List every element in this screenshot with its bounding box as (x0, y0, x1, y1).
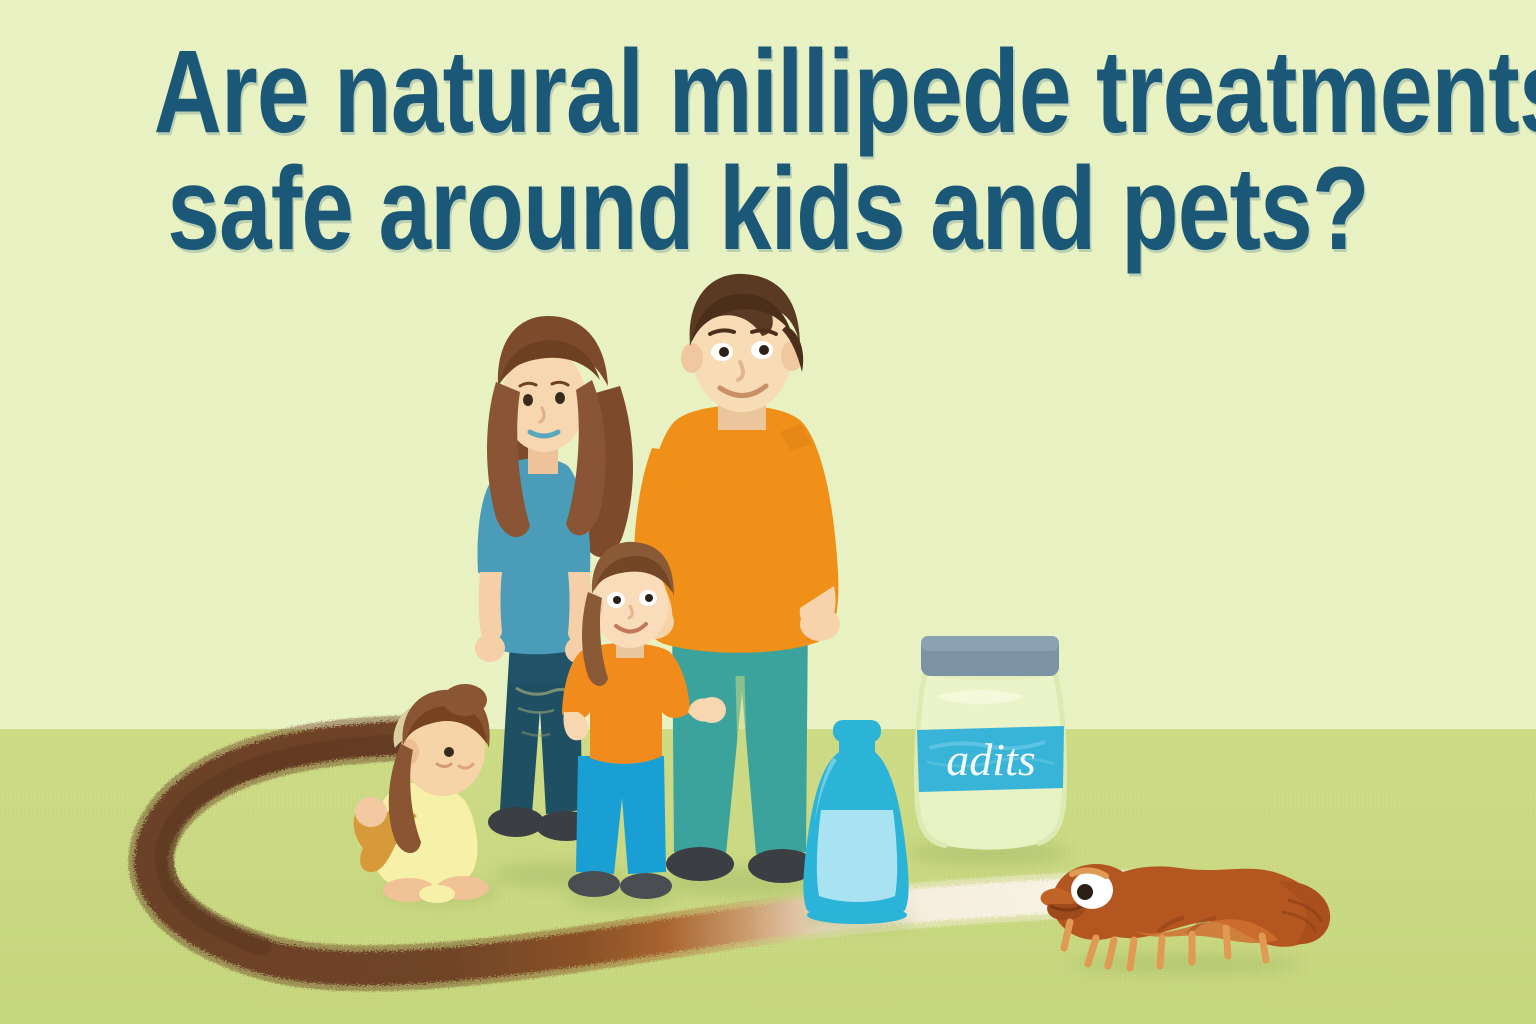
illustration-canvas: adits Are natural milli (0, 0, 1536, 1024)
jar-label-text: adits (946, 734, 1035, 785)
child-figure (552, 548, 732, 918)
millipede-mascot (1030, 848, 1340, 978)
spray-bottle (795, 718, 920, 930)
toddler-figure (325, 690, 525, 910)
diatomaceous-earth-jar: adits (903, 630, 1078, 860)
